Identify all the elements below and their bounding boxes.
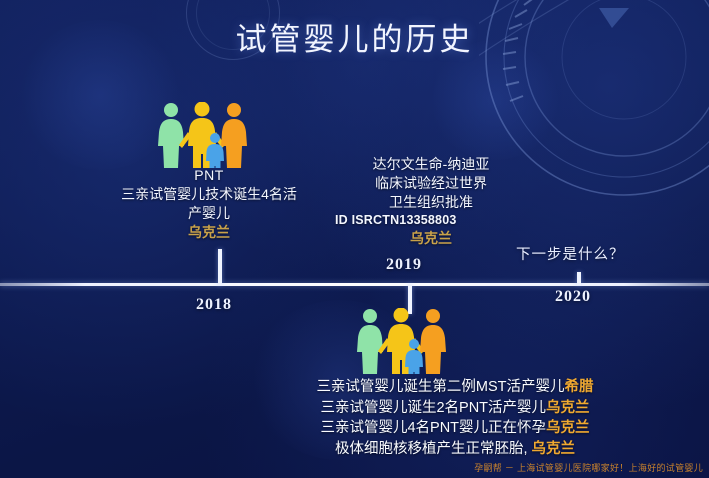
event-row-text: 三亲试管婴儿诞生第二例MST活产婴儿 bbox=[316, 379, 564, 395]
event-2019u-trial-id: ID ISRCTN13358803 bbox=[333, 212, 529, 229]
event-2018-line1: 三亲试管婴儿技术诞生4名活 bbox=[96, 185, 322, 204]
timeline-axis bbox=[0, 283, 709, 286]
timeline-year-2019: 2019 bbox=[386, 256, 422, 274]
next-step-question: 下一步是什么？ bbox=[516, 243, 625, 264]
presentation-slide: 试管婴儿的历史 2018 2019 2020 bbox=[0, 0, 709, 478]
timeline-year-2020: 2020 bbox=[555, 288, 591, 306]
event-2019u-country: 乌克兰 bbox=[333, 229, 529, 248]
event-2018-tag: PNT bbox=[96, 166, 322, 185]
event-row-text: 三亲试管婴儿诞生2名PNT活产婴儿 bbox=[320, 400, 546, 416]
event-row: 三亲试管婴儿诞生2名PNT活产婴儿乌克兰 bbox=[289, 398, 621, 419]
event-2019u-line1: 达尔文生命-纳迪亚 bbox=[333, 155, 529, 174]
event-2019u-line3: 卫生组织批准 bbox=[333, 193, 529, 212]
event-row-text: 极体细胞核移植产生正常胚胎, bbox=[335, 441, 528, 457]
timeline-tick-2020 bbox=[577, 272, 581, 285]
event-row-country: 希腊 bbox=[565, 379, 594, 395]
family-group-icon-top bbox=[157, 102, 249, 173]
event-row-country: 乌克兰 bbox=[532, 441, 576, 457]
event-2018-country: 乌克兰 bbox=[96, 223, 322, 242]
event-row: 极体细胞核移植产生正常胚胎, 乌克兰 bbox=[289, 439, 621, 460]
timeline-tick-2018 bbox=[218, 249, 222, 285]
event-row-country: 乌克兰 bbox=[546, 400, 590, 416]
timeline-year-2018: 2018 bbox=[196, 296, 232, 314]
event-block-2018: PNT 三亲试管婴儿技术诞生4名活 产婴儿 乌克兰 bbox=[96, 166, 322, 242]
event-2019u-line2: 临床试验经过世界 bbox=[333, 174, 529, 193]
event-row-text: 三亲试管婴儿4名PNT婴儿正在怀孕 bbox=[320, 420, 546, 436]
event-2018-line2: 产婴儿 bbox=[96, 204, 322, 223]
event-row: 三亲试管婴儿诞生第二例MST活产婴儿希腊 bbox=[289, 377, 621, 398]
slide-title: 试管婴儿的历史 bbox=[0, 14, 709, 59]
event-row: 三亲试管婴儿4名PNT婴儿正在怀孕乌克兰 bbox=[289, 418, 621, 439]
event-row-country: 乌克兰 bbox=[546, 420, 590, 436]
family-group-icon-bottom bbox=[356, 308, 448, 379]
event-block-2019-lower: 三亲试管婴儿诞生第二例MST活产婴儿希腊 三亲试管婴儿诞生2名PNT活产婴儿乌克… bbox=[289, 377, 621, 459]
event-block-2019-upper: 达尔文生命-纳迪亚 临床试验经过世界 卫生组织批准 ID ISRCTN13358… bbox=[333, 155, 529, 247]
watermark-text: 孕嗣帮 － 上海试管婴儿医院哪家好！上海好的试管婴儿 bbox=[474, 461, 703, 474]
